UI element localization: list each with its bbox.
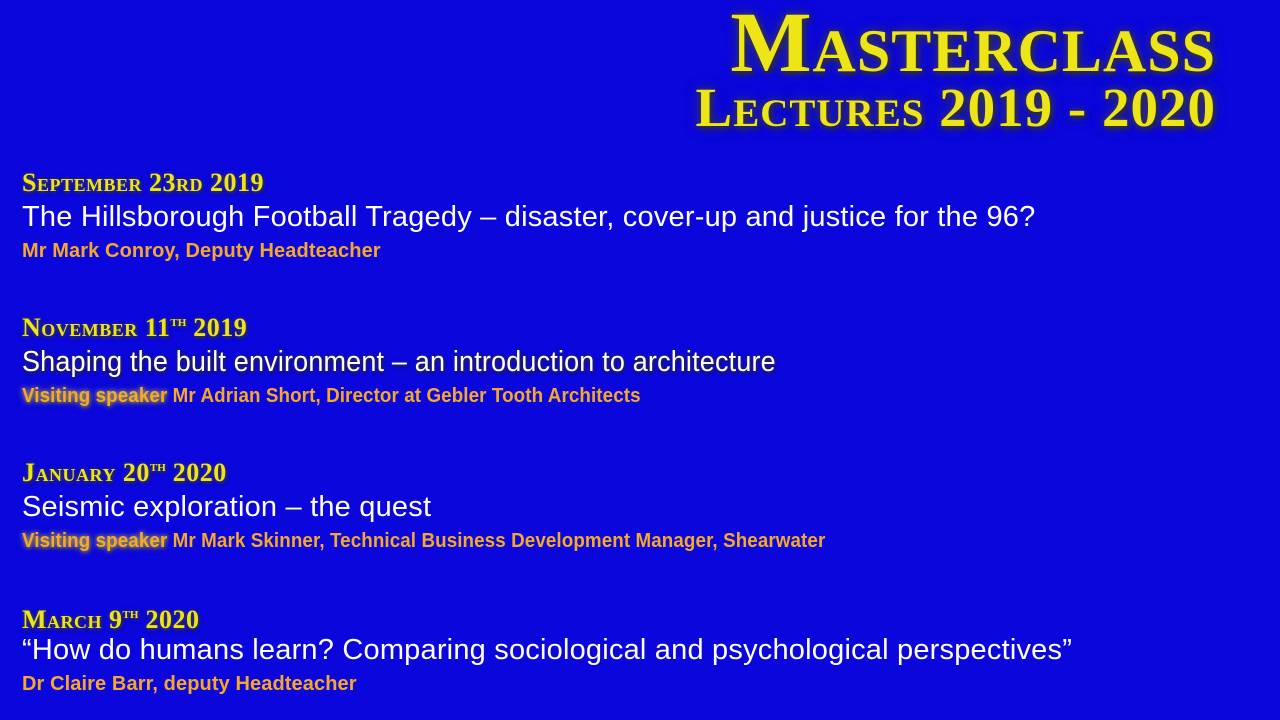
lecture-speaker: Visiting speaker Mr Adrian Short, Direct… bbox=[22, 382, 1197, 410]
date-ordinal-suffix: th bbox=[123, 605, 139, 622]
list-item: November 11th 2019 Shaping the built env… bbox=[22, 313, 1272, 410]
lecture-date-text: September 23rd 2019 bbox=[22, 168, 264, 197]
date-ordinal-suffix: th bbox=[150, 458, 166, 475]
page-title: Masterclass bbox=[456, 2, 1216, 84]
lecture-title: “How do humans learn? Comparing sociolog… bbox=[22, 631, 1272, 670]
lecture-date-year: 2019 bbox=[186, 313, 247, 342]
lecture-date-text: November 11 bbox=[22, 313, 170, 342]
lecture-date-text: March 9 bbox=[22, 605, 123, 634]
visiting-speaker-badge: Visiting speaker bbox=[22, 530, 167, 552]
lecture-speaker-name: Mr Adrian Short, Director at Gebler Toot… bbox=[167, 385, 640, 407]
lecture-speaker-name: Dr Claire Barr, deputy Headteacher bbox=[22, 673, 357, 695]
lecture-date: January 20th 2020 bbox=[22, 458, 1272, 488]
list-item: March 9th 2020 “How do humans learn? Com… bbox=[22, 605, 1272, 698]
lecture-speaker: Mr Mark Conroy, Deputy Headteacher bbox=[22, 237, 1272, 265]
lecture-date: November 11th 2019 bbox=[22, 313, 1272, 343]
lecture-date-year: 2020 bbox=[166, 458, 227, 487]
visiting-speaker-badge: Visiting speaker bbox=[22, 385, 167, 407]
lecture-date: September 23rd 2019 bbox=[22, 168, 1272, 198]
lecture-date-year: 2020 bbox=[138, 605, 199, 634]
lecture-date-text: January 20 bbox=[22, 458, 150, 487]
lecture-title: Shaping the built environment – an intro… bbox=[22, 343, 1185, 382]
lecture-speaker-name: Mr Mark Skinner, Technical Business Deve… bbox=[167, 530, 825, 552]
lecture-speaker: Dr Claire Barr, deputy Headteacher bbox=[22, 670, 1272, 698]
page-subtitle: Lectures 2019 - 2020 bbox=[456, 80, 1216, 135]
lecture-speaker-name: Mr Mark Conroy, Deputy Headteacher bbox=[22, 240, 381, 262]
slide-title-block: Masterclass Lectures 2019 - 2020 bbox=[456, 2, 1216, 135]
lecture-speaker: Visiting speaker Mr Mark Skinner, Techni… bbox=[22, 527, 1197, 555]
list-item: January 20th 2020 Seismic exploration – … bbox=[22, 458, 1272, 555]
lecture-title: Seismic exploration – the quest bbox=[22, 488, 1272, 527]
list-item: September 23rd 2019 The Hillsborough Foo… bbox=[22, 168, 1272, 265]
presentation-slide: Masterclass Lectures 2019 - 2020 Septemb… bbox=[0, 0, 1280, 720]
date-ordinal-suffix: th bbox=[170, 313, 186, 330]
lecture-title: The Hillsborough Football Tragedy – disa… bbox=[22, 198, 1272, 237]
